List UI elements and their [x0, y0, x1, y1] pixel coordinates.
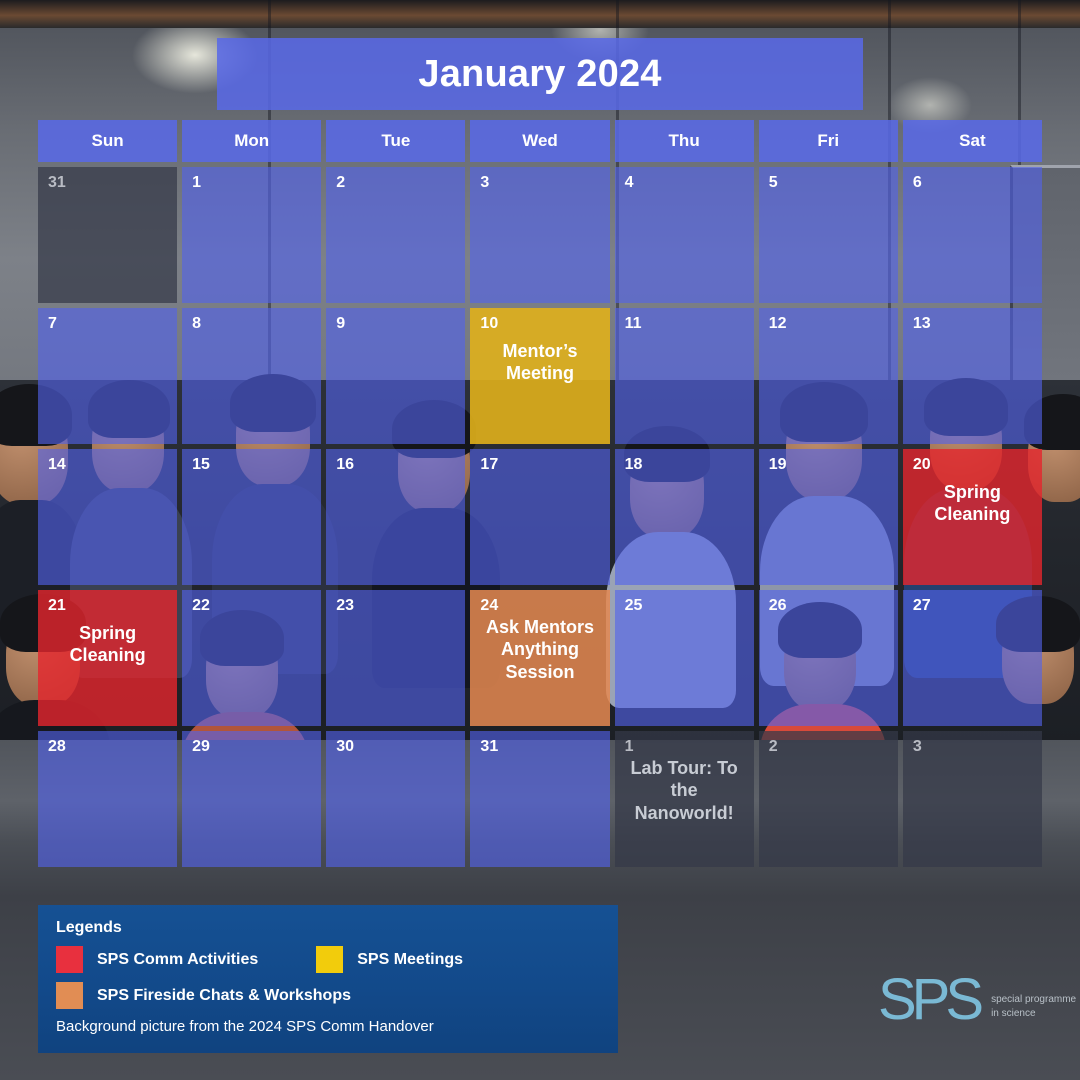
day-cell[interactable]: 31: [470, 731, 609, 867]
weekday-sun: Sun: [38, 120, 177, 162]
day-event: Mentor’s Meeting: [480, 340, 599, 385]
weekday-tue: Tue: [326, 120, 465, 162]
day-cell[interactable]: 22: [182, 590, 321, 726]
calendar-grid: Sun Mon Tue Wed Thu Fri Sat 31 1 2 3: [38, 120, 1042, 867]
day-cell[interactable]: 23: [326, 590, 465, 726]
legend-row: SPS Fireside Chats & Workshops: [56, 982, 600, 1009]
sps-logo: SPS special programme in science: [878, 975, 1076, 1025]
day-cell[interactable]: 2: [326, 167, 465, 303]
calendar-title-bar: January 2024: [217, 38, 863, 110]
day-cell[interactable]: 16: [326, 449, 465, 585]
day-cell[interactable]: 1: [182, 167, 321, 303]
day-cell[interactable]: 19: [759, 449, 898, 585]
day-cell[interactable]: 26: [759, 590, 898, 726]
weekday-mon: Mon: [182, 120, 321, 162]
day-event: Lab Tour: To the Nanoworld!: [625, 757, 744, 824]
day-cell[interactable]: 12: [759, 308, 898, 444]
legend-label: SPS Comm Activities: [97, 951, 258, 969]
day-number: 12: [769, 316, 888, 332]
day-cell[interactable]: 4: [615, 167, 754, 303]
sps-tagline-line1: special programme: [991, 994, 1076, 1005]
legends-heading: Legends: [56, 919, 600, 937]
calendar: January 2024 Sun Mon Tue Wed Thu Fri Sat…: [0, 0, 1080, 1080]
weekday-fri: Fri: [759, 120, 898, 162]
day-number: 9: [336, 316, 455, 332]
day-number: 2: [769, 739, 888, 755]
legends-panel: Legends SPS Comm Activities SPS Meetings…: [38, 905, 618, 1053]
day-cell-event-spring-cleaning[interactable]: 21 Spring Cleaning: [38, 590, 177, 726]
day-number: 23: [336, 598, 455, 614]
legend-label: SPS Fireside Chats & Workshops: [97, 987, 351, 1005]
day-number: 28: [48, 739, 167, 755]
day-number: 7: [48, 316, 167, 332]
day-number: 3: [913, 739, 1032, 755]
legend-swatch-red-icon: [56, 946, 83, 973]
sps-logo-mark: SPS: [878, 975, 979, 1025]
legend-item-fireside-chats: SPS Fireside Chats & Workshops: [56, 982, 351, 1009]
calendar-week-row: 14 15 16 17 18 19 20 Spring Cleaning: [38, 449, 1042, 585]
day-number: 27: [913, 598, 1032, 614]
calendar-week-row: 21 Spring Cleaning 22 23 24 Ask Mentors …: [38, 590, 1042, 726]
weekday-header-row: Sun Mon Tue Wed Thu Fri Sat: [38, 120, 1042, 162]
day-number: 10: [480, 316, 599, 332]
day-cell[interactable]: 9: [326, 308, 465, 444]
calendar-week-row: 28 29 30 31 1 Lab Tour: To the Nanoworld…: [38, 731, 1042, 867]
day-number: 30: [336, 739, 455, 755]
day-number: 26: [769, 598, 888, 614]
day-number: 11: [625, 316, 744, 332]
day-number: 14: [48, 457, 167, 473]
day-cell[interactable]: 28: [38, 731, 177, 867]
day-cell-event-ask-mentors-anything[interactable]: 24 Ask Mentors Anything Session: [470, 590, 609, 726]
day-cell[interactable]: 29: [182, 731, 321, 867]
day-cell[interactable]: 17: [470, 449, 609, 585]
legend-item-comm-activities: SPS Comm Activities: [56, 946, 258, 973]
day-number: 29: [192, 739, 311, 755]
day-number: 19: [769, 457, 888, 473]
sps-tagline-line2: in science: [991, 1008, 1035, 1019]
legend-swatch-orange-icon: [56, 982, 83, 1009]
legends-note: Background picture from the 2024 SPS Com…: [56, 1018, 600, 1035]
day-number: 22: [192, 598, 311, 614]
day-number: 25: [625, 598, 744, 614]
day-cell[interactable]: 27: [903, 590, 1042, 726]
day-number: 4: [625, 175, 744, 191]
day-cell[interactable]: 11: [615, 308, 754, 444]
weekday-wed: Wed: [470, 120, 609, 162]
day-number: 15: [192, 457, 311, 473]
day-number: 8: [192, 316, 311, 332]
weekday-sat: Sat: [903, 120, 1042, 162]
legend-row: SPS Comm Activities SPS Meetings: [56, 946, 600, 973]
day-number: 21: [48, 598, 167, 614]
day-cell[interactable]: 5: [759, 167, 898, 303]
day-cell[interactable]: 18: [615, 449, 754, 585]
day-cell[interactable]: 8: [182, 308, 321, 444]
day-number: 1: [192, 175, 311, 191]
day-number: 6: [913, 175, 1032, 191]
day-event: Spring Cleaning: [48, 622, 167, 667]
day-number: 17: [480, 457, 599, 473]
day-cell[interactable]: 7: [38, 308, 177, 444]
day-number: 2: [336, 175, 455, 191]
day-event: Ask Mentors Anything Session: [480, 616, 599, 683]
day-cell[interactable]: 6: [903, 167, 1042, 303]
legend-item-meetings: SPS Meetings: [316, 946, 463, 973]
day-number: 31: [48, 175, 167, 191]
day-cell[interactable]: 14: [38, 449, 177, 585]
day-number: 20: [913, 457, 1032, 473]
day-number: 18: [625, 457, 744, 473]
day-cell[interactable]: 2: [759, 731, 898, 867]
day-cell[interactable]: 15: [182, 449, 321, 585]
calendar-week-row: 31 1 2 3 4 5 6: [38, 167, 1042, 303]
page-title: January 2024: [418, 53, 661, 96]
weekday-thu: Thu: [615, 120, 754, 162]
day-number: 3: [480, 175, 599, 191]
day-cell[interactable]: 3: [903, 731, 1042, 867]
day-cell-event-lab-tour[interactable]: 1 Lab Tour: To the Nanoworld!: [615, 731, 754, 867]
day-number: 5: [769, 175, 888, 191]
day-cell[interactable]: 3: [470, 167, 609, 303]
day-cell[interactable]: 25: [615, 590, 754, 726]
day-number: 1: [625, 739, 744, 755]
day-number: 16: [336, 457, 455, 473]
day-cell[interactable]: 13: [903, 308, 1042, 444]
day-number: 13: [913, 316, 1032, 332]
day-cell[interactable]: 31: [38, 167, 177, 303]
legend-label: SPS Meetings: [357, 951, 463, 969]
day-cell[interactable]: 30: [326, 731, 465, 867]
legend-swatch-yellow-icon: [316, 946, 343, 973]
day-cell-event-spring-cleaning[interactable]: 20 Spring Cleaning: [903, 449, 1042, 585]
day-cell-event-mentors-meeting[interactable]: 10 Mentor’s Meeting: [470, 308, 609, 444]
day-number: 24: [480, 598, 599, 614]
calendar-week-row: 7 8 9 10 Mentor’s Meeting 11 12 13: [38, 308, 1042, 444]
day-event: Spring Cleaning: [913, 481, 1032, 526]
sps-logo-tagline: special programme in science: [991, 993, 1076, 1020]
day-number: 31: [480, 739, 599, 755]
